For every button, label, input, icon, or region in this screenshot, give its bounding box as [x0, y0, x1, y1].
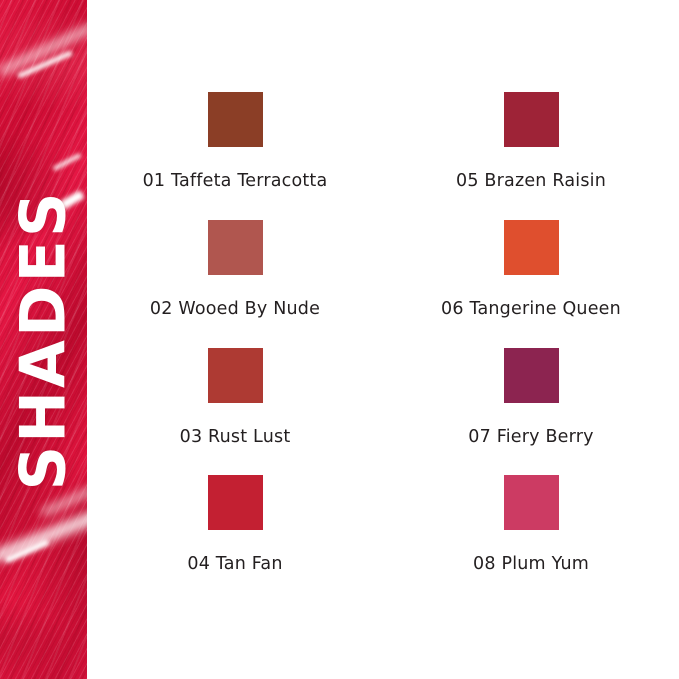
shade-cell-07[interactable]: 07 Fiery Berry: [383, 348, 679, 476]
shade-grid: 01 Taffeta Terracotta 05 Brazen Raisin 0…: [87, 0, 679, 679]
shade-label-04: 04 Tan Fan: [187, 554, 282, 574]
shade-cell-05[interactable]: 05 Brazen Raisin: [383, 92, 679, 220]
shade-swatch-04[interactable]: [208, 475, 263, 530]
shade-label-01: 01 Taffeta Terracotta: [143, 171, 328, 191]
shade-swatch-07[interactable]: [504, 348, 559, 403]
shade-label-05: 05 Brazen Raisin: [456, 171, 606, 191]
shade-cell-03[interactable]: 03 Rust Lust: [87, 348, 383, 476]
shade-swatch-01[interactable]: [208, 92, 263, 147]
shade-cell-02[interactable]: 02 Wooed By Nude: [87, 220, 383, 348]
shade-swatch-02[interactable]: [208, 220, 263, 275]
shade-cell-06[interactable]: 06 Tangerine Queen: [383, 220, 679, 348]
shade-swatch-05[interactable]: [504, 92, 559, 147]
banner-title: SHADES: [0, 0, 87, 679]
shade-swatch-03[interactable]: [208, 348, 263, 403]
banner-title-text: SHADES: [13, 189, 75, 490]
shade-label-02: 02 Wooed By Nude: [150, 299, 320, 319]
shade-swatch-08[interactable]: [504, 475, 559, 530]
shades-banner: SHADES: [0, 0, 87, 679]
shade-label-08: 08 Plum Yum: [473, 554, 589, 574]
shade-label-07: 07 Fiery Berry: [468, 427, 593, 447]
shade-cell-08[interactable]: 08 Plum Yum: [383, 475, 679, 603]
shade-cell-01[interactable]: 01 Taffeta Terracotta: [87, 92, 383, 220]
shade-chart-page: SHADES 01 Taffeta Terracotta 05 Brazen R…: [0, 0, 679, 679]
shade-label-03: 03 Rust Lust: [180, 427, 291, 447]
shade-label-06: 06 Tangerine Queen: [441, 299, 621, 319]
shade-cell-04[interactable]: 04 Tan Fan: [87, 475, 383, 603]
shade-swatch-06[interactable]: [504, 220, 559, 275]
